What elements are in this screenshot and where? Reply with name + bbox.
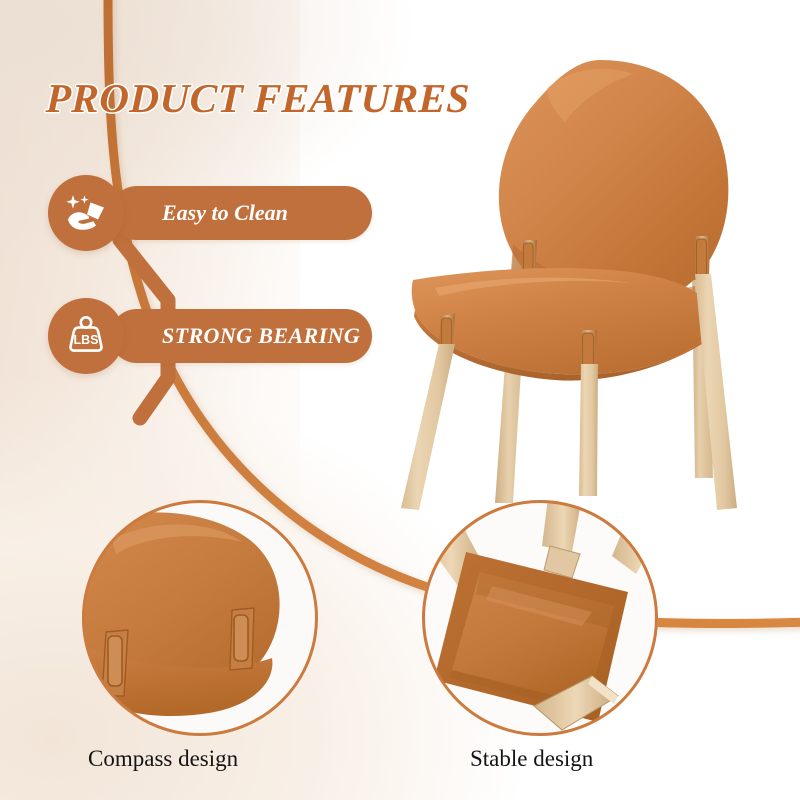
- callout-caption-compass-design: Compass design: [88, 746, 238, 772]
- product-image-chair: [395, 48, 800, 548]
- callout-ring: [82, 500, 318, 736]
- detail-callout-stable-design[interactable]: [422, 500, 658, 736]
- feature-label: STRONG BEARING: [162, 323, 360, 349]
- feature-icon-circle: LBS: [48, 298, 124, 374]
- weight-icon-text: LBS: [74, 333, 99, 347]
- feature-label: Easy to Clean: [162, 200, 288, 226]
- callout-ring: [422, 500, 658, 736]
- hand-with-cloth-sparkle-icon: [62, 189, 110, 237]
- feature-icon-circle: [48, 175, 124, 251]
- feature-pill: STRONG BEARING: [110, 309, 372, 363]
- detail-callout-compass-design[interactable]: [82, 500, 318, 736]
- weight-lbs-icon: LBS: [63, 313, 109, 359]
- feature-pill: Easy to Clean: [110, 186, 372, 240]
- infographic-canvas: PRODUCT FEATURES Easy to Clean STRONG BE…: [0, 0, 800, 800]
- callout-caption-stable-design: Stable design: [470, 746, 593, 772]
